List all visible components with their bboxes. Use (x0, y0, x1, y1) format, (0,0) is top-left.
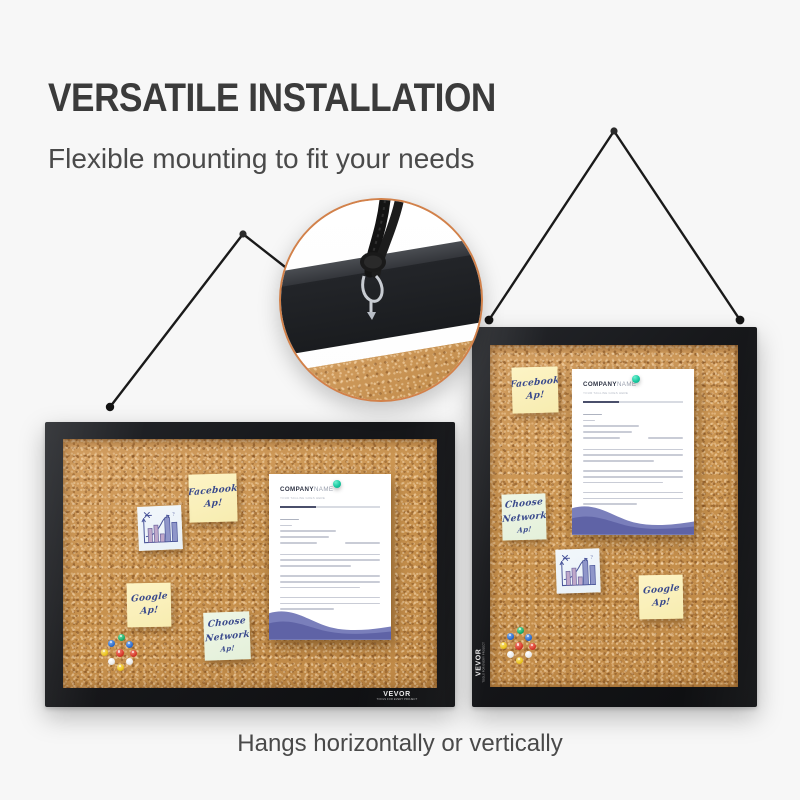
svg-text:?: ? (172, 512, 175, 517)
document-rule (583, 401, 683, 403)
hand-drawn-growth-chart-icon: ? (137, 505, 183, 551)
document-wave-graphic (572, 492, 694, 535)
document-title: COMPANYNAME (280, 486, 333, 493)
hook-tip-icon (367, 312, 376, 320)
svg-text:?: ? (590, 555, 593, 560)
document-subtitle: YOUR TAGLINE GOES HERE (280, 496, 325, 500)
pushpin-blue[interactable] (507, 633, 514, 640)
document-wave-graphic (269, 597, 391, 640)
document-title: COMPANYNAME (583, 381, 636, 388)
document-pin-icon (632, 375, 640, 383)
letterhead-document[interactable]: COMPANYNAME YOUR TAGLINE GOES HERE (572, 369, 694, 535)
magnifier-content (281, 200, 481, 400)
hand-drawn-growth-chart-icon: ? (555, 548, 601, 594)
page-subheadline: Flexible mounting to fit your needs (48, 143, 474, 175)
cord-and-dring-detail (281, 200, 481, 400)
pushpin-blue-2[interactable] (126, 641, 133, 648)
brand-mark: VEVOR TOOLS FOR EVERY PROJECT (371, 691, 423, 702)
note-google[interactable]: Google Ap! (127, 583, 172, 628)
pushpin-yellow-2[interactable] (117, 664, 124, 671)
d-ring-icon (363, 276, 382, 314)
pushpin-yellow[interactable] (101, 649, 108, 656)
vertical-board[interactable]: COMPANYNAME YOUR TAGLINE GOES HERE (472, 327, 757, 707)
pushpin-yellow-2[interactable] (516, 657, 523, 664)
page-headline: VERSATILE INSTALLATION (48, 76, 496, 121)
magnifier-callout[interactable] (279, 198, 483, 402)
letterhead-document[interactable]: COMPANYNAME YOUR TAGLINE GOES HERE (269, 474, 391, 640)
pushpin-white-2[interactable] (126, 658, 133, 665)
pushpin-yellow[interactable] (500, 642, 507, 649)
pushpin-cluster[interactable] (500, 627, 548, 663)
pushpin-red[interactable] (116, 649, 124, 657)
pushpin-green[interactable] (118, 634, 125, 641)
pushpin-white[interactable] (108, 658, 115, 665)
document-subtitle: YOUR TAGLINE GOES HERE (583, 391, 628, 395)
pushpin-red-2[interactable] (529, 643, 536, 650)
pushpin-white-2[interactable] (525, 651, 532, 658)
pushpin-green[interactable] (517, 627, 524, 634)
braided-cord-icon (360, 200, 399, 274)
note-choose-network[interactable]: Choose Network Ap! (501, 493, 546, 540)
document-pin-icon (333, 480, 341, 488)
product-feature-image: VERSATILE INSTALLATION Flexible mounting… (0, 0, 800, 800)
page-caption: Hangs horizontally or vertically (0, 730, 800, 758)
note-facebook[interactable]: Facebook Ap! (188, 473, 237, 522)
note-google[interactable]: Google Ap! (639, 575, 684, 620)
pushpin-blue-2[interactable] (525, 634, 532, 641)
document-rule (280, 506, 380, 508)
chart-note[interactable]: ? (137, 505, 183, 551)
note-choose-network[interactable]: Choose Network Ap! (203, 611, 251, 661)
horizontal-board[interactable]: COMPANYNAME YOUR TAGLINE GOES HERE (45, 422, 455, 707)
pushpin-cluster[interactable] (101, 634, 149, 670)
brand-mark: VEVOR TOOLS FOR EVERY PROJECT (476, 636, 487, 688)
pushpin-blue[interactable] (108, 640, 115, 647)
pushpin-red-2[interactable] (130, 650, 137, 657)
chart-note[interactable]: ? (555, 548, 601, 594)
pushpin-red[interactable] (515, 642, 523, 650)
note-facebook[interactable]: Facebook Ap! (511, 366, 558, 413)
pushpin-white[interactable] (507, 651, 514, 658)
